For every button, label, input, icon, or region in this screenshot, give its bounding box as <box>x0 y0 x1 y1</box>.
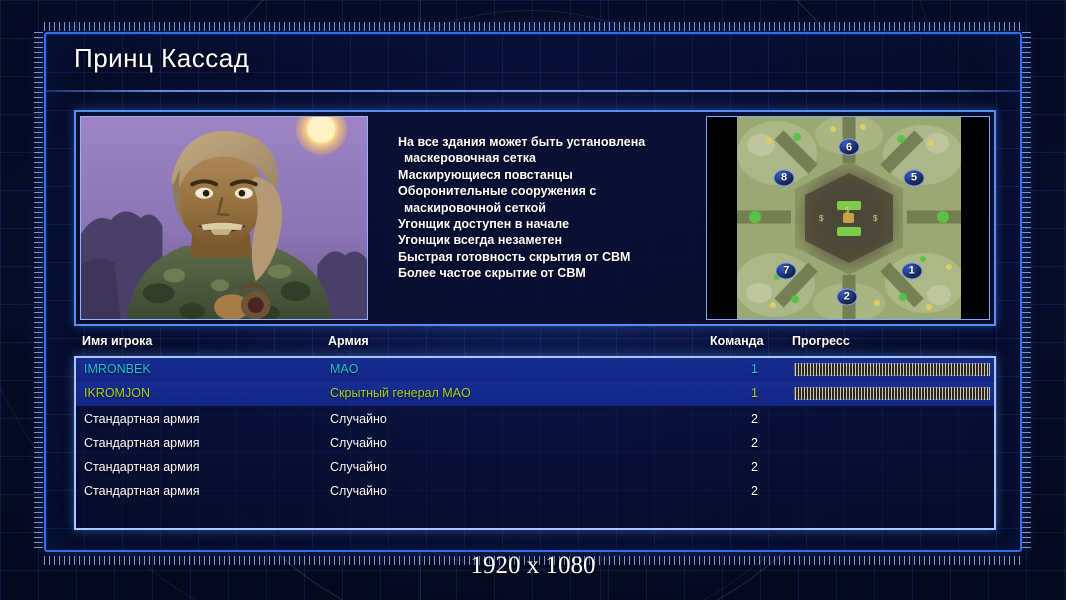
start-position-marker[interactable]: 1 <box>901 262 922 279</box>
player-name: Стандартная армия <box>84 412 199 426</box>
ruler-left <box>34 32 43 552</box>
general-info-panel: На все здания может быть установлена мас… <box>74 110 996 326</box>
column-header-team: Команда <box>710 334 764 348</box>
title-bar: Принц Кассад <box>46 34 1020 92</box>
player-progress-bar <box>794 387 990 400</box>
player-army[interactable]: Случайно <box>330 412 387 426</box>
general-description: На все здания может быть установлена мас… <box>398 134 698 282</box>
column-header-progress: Прогресс <box>792 334 850 348</box>
player-team[interactable]: 1 <box>744 362 758 376</box>
description-line: маскеровочная сетка <box>398 150 698 166</box>
ruler-right <box>1022 32 1031 552</box>
table-row[interactable]: IKROMJON Скрытный генерал MAO 1 <box>76 382 994 406</box>
table-row[interactable]: Стандартная армия Случайно 2 <box>76 432 994 456</box>
description-line: Угонщик всегда незаметен <box>398 232 698 248</box>
main-panel: Принц Кассад <box>44 32 1022 552</box>
description-line: Маскирующиеся повстанцы <box>398 167 698 183</box>
start-position-marker[interactable]: 6 <box>839 139 860 156</box>
player-table-header: Имя игрока Армия Команда Прогресс <box>74 334 996 356</box>
player-army[interactable]: Случайно <box>330 484 387 498</box>
description-line: На все здания может быть установлена <box>398 134 698 150</box>
column-header-player-name: Имя игрока <box>82 334 152 348</box>
player-army[interactable]: Случайно <box>330 460 387 474</box>
table-row[interactable]: Стандартная армия Случайно 2 <box>76 408 994 432</box>
description-line: Более частое скрытие от СВМ <box>398 265 698 281</box>
start-position-marker[interactable]: 8 <box>774 169 795 186</box>
start-positions: 6 8 5 7 1 2 <box>737 117 961 319</box>
title-divider <box>46 90 1020 92</box>
description-line: Оборонительные сооружения с <box>398 183 698 199</box>
player-name: IKROMJON <box>84 386 150 400</box>
game-lobby-screen: Принц Кассад <box>0 0 1066 600</box>
table-row[interactable]: IMRONBEK MAO 1 <box>76 358 994 382</box>
player-team[interactable]: 1 <box>744 386 758 400</box>
column-header-army: Армия <box>328 334 369 348</box>
general-portrait <box>80 116 368 320</box>
player-team[interactable]: 2 <box>744 484 758 498</box>
player-army[interactable]: MAO <box>330 362 358 376</box>
player-name: Стандартная армия <box>84 460 199 474</box>
player-team[interactable]: 2 <box>744 460 758 474</box>
resolution-label: 1920 x 1080 <box>0 552 1066 580</box>
ruler-top <box>44 22 1022 31</box>
player-army[interactable]: Случайно <box>330 436 387 450</box>
description-line: Угонщик доступен в начале <box>398 216 698 232</box>
player-team[interactable]: 2 <box>744 412 758 426</box>
start-position-marker[interactable]: 2 <box>836 288 857 305</box>
player-name: Стандартная армия <box>84 484 199 498</box>
minimap-frame: $ $ $ <box>706 116 990 320</box>
start-position-marker[interactable]: 5 <box>903 169 924 186</box>
minimap[interactable]: $ $ $ <box>737 117 961 319</box>
player-army[interactable]: Скрытный генерал MAO <box>330 386 471 400</box>
player-progress-bar <box>794 363 990 376</box>
player-name: IMRONBEK <box>84 362 151 376</box>
player-table: IMRONBEK MAO 1 IKROMJON Скрытный генерал… <box>74 356 996 530</box>
player-name: Стандартная армия <box>84 436 199 450</box>
description-line: Быстрая готовность скрытия от СВМ <box>398 249 698 265</box>
page-title: Принц Кассад <box>74 43 249 74</box>
player-team[interactable]: 2 <box>744 436 758 450</box>
table-row[interactable]: Стандартная армия Случайно 2 <box>76 480 994 504</box>
description-line: маскировочной сеткой <box>398 200 698 216</box>
start-position-marker[interactable]: 7 <box>776 262 797 279</box>
table-row[interactable]: Стандартная армия Случайно 2 <box>76 456 994 480</box>
